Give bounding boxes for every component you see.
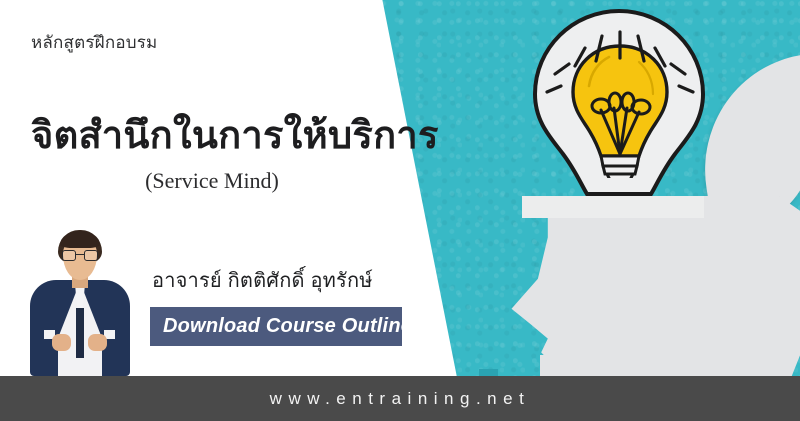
portrait-hand-right [88, 334, 107, 351]
portrait-hand-left [52, 334, 71, 351]
download-course-outline-button[interactable]: Download Course Outline [150, 307, 402, 346]
page-subtitle: (Service Mind) [31, 168, 393, 194]
download-button-label: Download Course Outline [163, 315, 412, 338]
page-title: จิตสำนึกในการให้บริการ [31, 104, 439, 165]
website-url[interactable]: www.entraining.net [270, 389, 531, 409]
portrait-hair-front [60, 231, 100, 248]
footer-bar: www.entraining.net [0, 376, 800, 421]
portrait-glasses-icon [62, 250, 98, 261]
glasses-lens-right [84, 250, 98, 261]
portrait-tie [76, 308, 84, 358]
course-banner: หลักสูตรฝึกอบรม จิตสำนึกในการให้บริการ (… [0, 0, 800, 421]
course-kicker: หลักสูตรฝึกอบรม [31, 29, 157, 56]
instructor-name: อาจารย์ กิตติศักดิ์ อุทรักษ์ [152, 264, 373, 296]
instructor-portrait [18, 222, 140, 376]
glasses-lens-left [62, 250, 76, 261]
lightbulb-rays-icon [545, 26, 695, 146]
lightbulb-icon [525, 6, 715, 206]
glasses-bridge [76, 254, 84, 255]
